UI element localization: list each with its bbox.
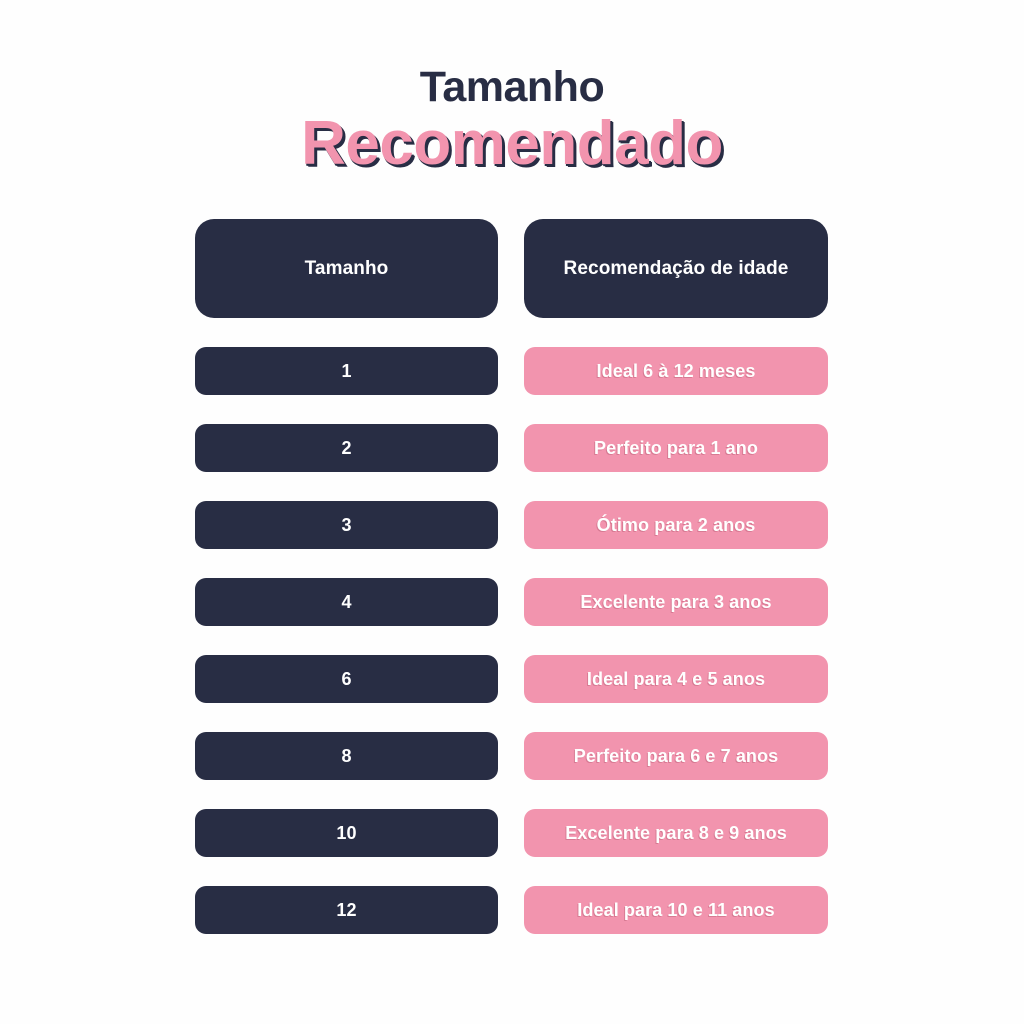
age-value: Ideal para 4 e 5 anos [579, 669, 773, 690]
title-line-primary: Tamanho [0, 62, 1024, 112]
table-row: 4 Excelente para 3 anos [195, 578, 828, 626]
age-cell: Perfeito para 1 ano [524, 424, 828, 472]
table-row: 8 Perfeito para 6 e 7 anos [195, 732, 828, 780]
header-label-size: Tamanho [297, 258, 397, 280]
age-value: Excelente para 3 anos [572, 592, 779, 613]
size-cell: 12 [195, 886, 498, 934]
table-row: 12 Ideal para 10 e 11 anos [195, 886, 828, 934]
age-cell: Ideal para 10 e 11 anos [524, 886, 828, 934]
size-recommendation-table: Tamanho Recomendação de idade 1 Ideal 6 … [195, 219, 828, 934]
table-row: 10 Excelente para 8 e 9 anos [195, 809, 828, 857]
age-value: Perfeito para 1 ano [586, 438, 766, 459]
age-cell: Ideal para 4 e 5 anos [524, 655, 828, 703]
age-cell: Perfeito para 6 e 7 anos [524, 732, 828, 780]
size-value: 6 [333, 669, 359, 690]
size-cell: 1 [195, 347, 498, 395]
header-cell-size: Tamanho [195, 219, 498, 318]
size-value: 3 [333, 515, 359, 536]
table-header-row: Tamanho Recomendação de idade [195, 219, 828, 318]
size-value: 10 [328, 823, 364, 844]
title-line-secondary: Recomendado [0, 108, 1024, 180]
age-cell: Excelente para 8 e 9 anos [524, 809, 828, 857]
page-title: Tamanho Recomendado [0, 62, 1024, 180]
size-cell: 2 [195, 424, 498, 472]
table-row: 1 Ideal 6 à 12 meses [195, 347, 828, 395]
size-cell: 4 [195, 578, 498, 626]
size-value: 4 [333, 592, 359, 613]
header-cell-age: Recomendação de idade [524, 219, 828, 318]
table-row: 2 Perfeito para 1 ano [195, 424, 828, 472]
size-cell: 10 [195, 809, 498, 857]
size-value: 1 [333, 361, 359, 382]
age-cell: Ótimo para 2 anos [524, 501, 828, 549]
size-cell: 6 [195, 655, 498, 703]
table-row: 6 Ideal para 4 e 5 anos [195, 655, 828, 703]
header-label-age: Recomendação de idade [556, 258, 797, 280]
age-value: Perfeito para 6 e 7 anos [566, 746, 787, 767]
size-value: 2 [333, 438, 359, 459]
age-value: Ideal 6 à 12 meses [589, 361, 764, 382]
size-cell: 8 [195, 732, 498, 780]
age-cell: Excelente para 3 anos [524, 578, 828, 626]
size-value: 12 [328, 900, 364, 921]
age-cell: Ideal 6 à 12 meses [524, 347, 828, 395]
age-value: Excelente para 8 e 9 anos [557, 823, 795, 844]
size-value: 8 [333, 746, 359, 767]
size-chart-graphic: Tamanho Recomendado Tamanho Recomendação… [0, 0, 1024, 1024]
size-cell: 3 [195, 501, 498, 549]
age-value: Ideal para 10 e 11 anos [569, 900, 782, 921]
age-value: Ótimo para 2 anos [589, 515, 764, 536]
table-row: 3 Ótimo para 2 anos [195, 501, 828, 549]
